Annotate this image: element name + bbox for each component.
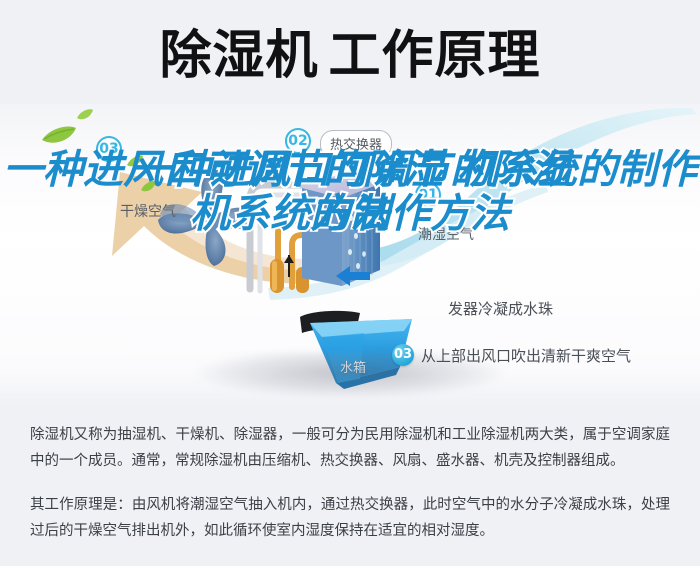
- label-dry-air: 干燥空气: [120, 201, 176, 221]
- badge-03-outlet: 03: [392, 344, 414, 366]
- paragraph-1: 除湿机又称为抽湿机、干燥机、除湿器，一般可分为民用除湿机和工业除湿机两大类，属于…: [30, 422, 670, 474]
- callout-tail-icon: [346, 150, 368, 172]
- page-title: 除湿机工作原理: [0, 26, 700, 86]
- step-line-03: 03 从上部出风口吹出清新干爽空气: [392, 344, 631, 366]
- heat-exchanger-icon: [296, 166, 386, 296]
- leaf-icon: [76, 108, 94, 122]
- label-moist-air: 潮湿空气: [418, 224, 474, 244]
- body-copy: 除湿机又称为抽湿机、干燥机、除湿器，一般可分为民用除湿机和工业除湿机两大类，属于…: [0, 404, 700, 566]
- page-root: 除湿机工作原理: [0, 0, 700, 566]
- page-title-part2: 工作原理: [329, 26, 541, 86]
- title-band: 除湿机工作原理: [0, 0, 700, 104]
- leaf-icon: [126, 154, 144, 169]
- badge-01-moist-air: 01: [415, 182, 441, 208]
- leaf-icon: [40, 124, 78, 146]
- step-02-text: 发器冷凝成水珠: [448, 298, 553, 319]
- step-03-text: 从上部出风口吹出清新干爽空气: [421, 345, 631, 366]
- illustration-stage: 水箱 03 干燥空气 02 热交换器 01 潮湿空气 发器冷凝成水珠 03 从上…: [0, 104, 700, 404]
- page-title-part1: 除湿机: [159, 26, 318, 86]
- badge-03-dry-air: 03: [96, 136, 122, 162]
- badge-02-heat-exchanger: 02: [285, 128, 311, 154]
- paragraph-2: 其工作原理是：由风机将潮湿空气抽入机内，通过热交换器，此时空气中的水分子冷凝成水…: [30, 492, 670, 544]
- step-line-02: 发器冷凝成水珠: [448, 298, 553, 319]
